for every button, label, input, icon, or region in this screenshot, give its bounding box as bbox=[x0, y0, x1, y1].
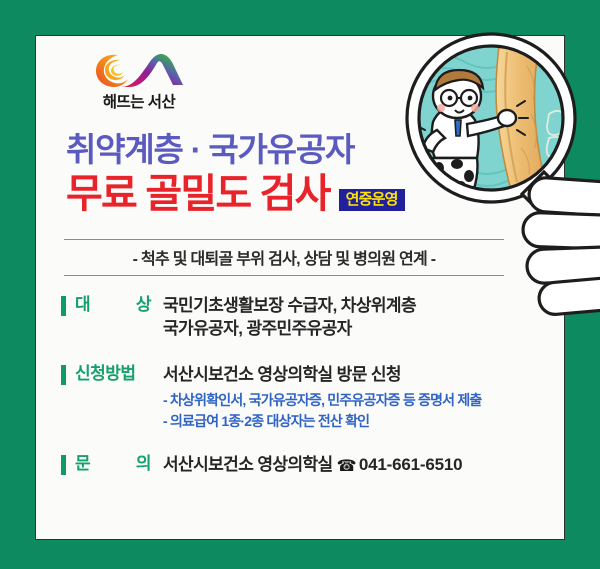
info-row-body: 서산시보건소 영상의학실☎041-661-6510 bbox=[155, 453, 541, 478]
info-row-target: 대 상 국민기초생활보장 수급자, 차상위계층 국가유공자, 광주민주유공자 bbox=[61, 294, 541, 341]
contact-office: 서산시보건소 영상의학실 bbox=[163, 455, 333, 474]
headline-block: 취약계층 · 국가유공자 무료 골밀도 검사 연중운영 bbox=[66, 131, 486, 217]
info-list: 대 상 국민기초생활보장 수급자, 차상위계층 국가유공자, 광주민주유공자 신… bbox=[61, 294, 541, 478]
poster-card: 해뜨는 서산 취약계층 · 국가유공자 무료 골밀도 검사 연중운영 - 척추 … bbox=[35, 35, 565, 540]
info-row-label: 문 의 bbox=[75, 453, 155, 476]
status-badge: 연중운영 bbox=[339, 189, 405, 211]
accent-bar-icon bbox=[61, 365, 66, 385]
label-char-2: 의 bbox=[136, 453, 151, 476]
info-row-label: 대 상 bbox=[75, 294, 155, 317]
body-line: 서산시보건소 영상의학실 방문 신청 bbox=[163, 363, 541, 386]
label-char-1: 문 bbox=[75, 453, 90, 476]
body-line: 국가유공자, 광주민주유공자 bbox=[163, 317, 541, 340]
contact-line: 서산시보건소 영상의학실☎041-661-6510 bbox=[163, 453, 541, 478]
info-row-inquiry: 문 의 서산시보건소 영상의학실☎041-661-6510 bbox=[61, 453, 541, 478]
body-line: 국민기초생활보장 수급자, 차상위계층 bbox=[163, 294, 541, 317]
logo-block: 해뜨는 서산 bbox=[74, 49, 204, 111]
info-row-label: 신청방법 bbox=[75, 363, 155, 386]
logo-text: 해뜨는 서산 bbox=[74, 94, 204, 111]
accent-bar-icon bbox=[61, 455, 66, 475]
info-row-body: 국민기초생활보장 수급자, 차상위계층 국가유공자, 광주민주유공자 bbox=[155, 294, 541, 341]
sub-line: - 차상위확인서, 국가유공자증, 민주유공자증 등 증명서 제출 bbox=[163, 390, 541, 410]
telephone-icon: ☎ bbox=[337, 456, 356, 478]
subtitle-band: - 척추 및 대퇴골 부위 검사, 상담 및 병의원 연계 - bbox=[64, 239, 504, 276]
accent-bar-icon bbox=[61, 296, 66, 316]
phone-number: 041-661-6510 bbox=[359, 455, 462, 474]
sub-line-list: - 차상위확인서, 국가유공자증, 민주유공자증 등 증명서 제출 - 의료급여… bbox=[163, 390, 541, 431]
title-line-2: 무료 골밀도 검사 bbox=[66, 172, 330, 217]
sub-line: - 의료급여 1종·2종 대상자는 전산 확인 bbox=[163, 411, 541, 431]
label-char-2: 상 bbox=[136, 294, 151, 317]
info-row-apply-method: 신청방법 서산시보건소 영상의학실 방문 신청 - 차상위확인서, 국가유공자증… bbox=[61, 363, 541, 431]
info-row-body: 서산시보건소 영상의학실 방문 신청 - 차상위확인서, 국가유공자증, 민주유… bbox=[155, 363, 541, 431]
poster-root: 해뜨는 서산 취약계층 · 국가유공자 무료 골밀도 검사 연중운영 - 척추 … bbox=[0, 0, 600, 569]
label-char-1: 대 bbox=[75, 294, 90, 317]
subtitle-text: - 척추 및 대퇴골 부위 검사, 상담 및 병의원 연계 - bbox=[64, 245, 504, 269]
title-line-1: 취약계층 · 국가유공자 bbox=[66, 131, 486, 170]
seosan-sunrise-logo-icon bbox=[93, 49, 185, 91]
